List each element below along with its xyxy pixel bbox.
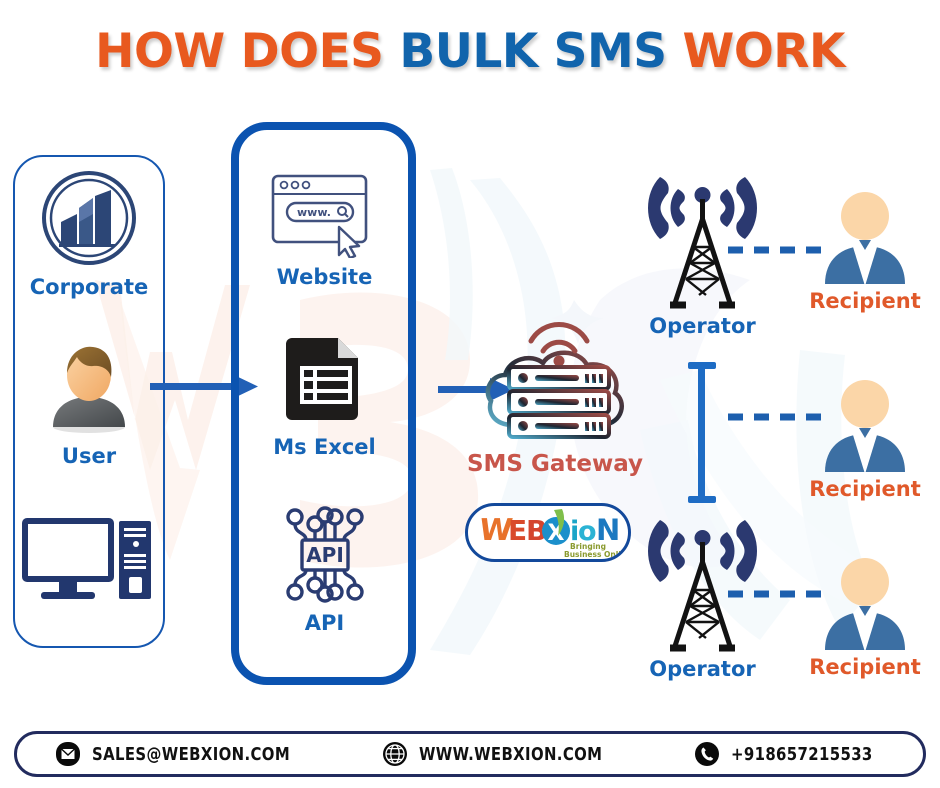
contact-phone[interactable]: +918657215533 [694, 741, 885, 767]
corporate-building-icon [39, 168, 139, 268]
cloud-server-icon [475, 305, 635, 450]
globe-icon [382, 741, 408, 767]
recipient-label-3: Recipient [800, 655, 930, 679]
contact-website-text: WWW.WEBXION.COM [419, 744, 602, 765]
user-avatar-icon [39, 335, 139, 435]
excel-spreadsheet-icon [282, 334, 368, 424]
operator-label-2: Operator [630, 657, 775, 681]
logo-tagline-line2: Business Online [564, 550, 628, 559]
channel-item-api[interactable]: API API [252, 502, 397, 635]
phone-icon [694, 741, 720, 767]
source-label-corporate: Corporate [25, 275, 153, 299]
logo-e-text: E [508, 514, 527, 547]
recipient-3[interactable]: Recipient [800, 556, 930, 679]
gateway-label: SMS Gateway [455, 451, 655, 477]
source-item-user[interactable]: User [25, 335, 153, 468]
desktop-computer-icon [19, 513, 159, 613]
recipient-1[interactable]: Recipient [800, 190, 930, 313]
page-title: HOW DOES BULK SMS WORK [0, 24, 940, 79]
browser-window-icon: www. [267, 170, 382, 258]
channel-label-excel: Ms Excel [252, 435, 397, 459]
recipient-avatar-icon [819, 556, 911, 652]
source-label-user: User [25, 444, 153, 468]
cell-tower-icon [630, 508, 775, 658]
title-part-2: BULK SMS [399, 24, 666, 79]
source-item-computer[interactable] [18, 513, 160, 618]
recipient-2[interactable]: Recipient [800, 378, 930, 501]
channel-item-excel[interactable]: Ms Excel [252, 334, 397, 459]
webxion-logo-badge[interactable]: W E B X i o N Bringing Business Online [465, 503, 631, 562]
contact-email-text: SALES@WEBXION.COM [92, 744, 290, 765]
channel-label-website: Website [252, 265, 397, 289]
infographic-canvas: HOW DOES BULK SMS WORK Corporate [0, 0, 940, 788]
contact-phone-text: +918657215533 [731, 744, 873, 765]
source-item-corporate[interactable]: Corporate [25, 168, 153, 299]
contact-footer: SALES@WEBXION.COM WWW.WEBXION.COM +918 [14, 731, 926, 777]
title-part-3: WORK [667, 24, 845, 79]
operator-link-line [686, 362, 718, 504]
webxion-logo-icon: W E B X i o N Bringing Business Online [468, 506, 628, 559]
recipient-avatar-icon [819, 378, 911, 474]
operator-label-1: Operator [630, 314, 775, 338]
svg-text:www.: www. [297, 206, 331, 219]
recipient-avatar-icon [819, 190, 911, 286]
cell-tower-icon [630, 165, 775, 315]
api-chip-icon: API [278, 502, 372, 604]
recipient-label-1: Recipient [800, 289, 930, 313]
svg-text:API: API [306, 543, 344, 567]
title-part-1: HOW DOES [95, 24, 399, 79]
channel-item-website[interactable]: www. Website [252, 170, 397, 289]
gateway-block[interactable]: SMS Gateway [455, 305, 655, 477]
channel-label-api: API [252, 611, 397, 635]
contact-email[interactable]: SALES@WEBXION.COM [55, 741, 307, 767]
email-icon [55, 741, 81, 767]
recipient-label-2: Recipient [800, 477, 930, 501]
contact-website[interactable]: WWW.WEBXION.COM [382, 741, 618, 767]
